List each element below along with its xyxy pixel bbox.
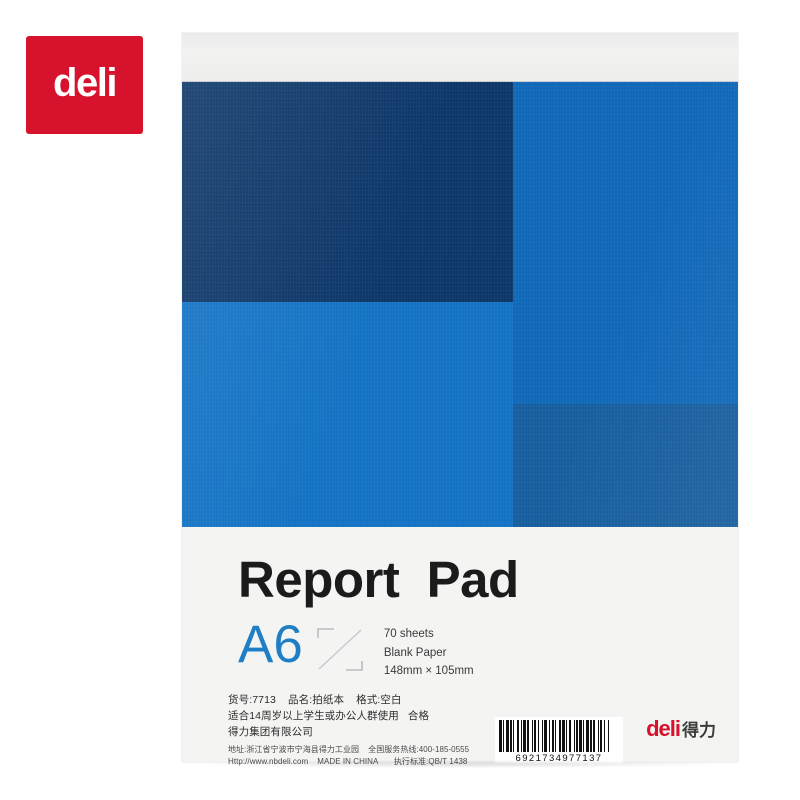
label-brand-logo: deli 得力 [646,718,716,740]
size-and-specs-row: A6 70 sheets Blank Paper 148mm × 105mm [238,621,474,681]
fineprint-age-suitability-line: 适合14周岁以上学生或办公人群使用 合格 [228,709,528,725]
color-block-top-left [182,82,513,302]
fineprint-company-name: 得力集团有限公司 [228,725,528,741]
fineprint-item-code-line: 货号:7713 品名:拍纸本 格式:空白 [228,693,528,709]
fineprint-address-hotline: 地址:浙江省宁波市宁海县得力工业园 全国服务热线:400-185-0555 [228,744,528,756]
color-block-top-right [513,82,738,404]
label-brand-logo-latin: deli [646,718,680,740]
fineprint-block: 货号:7713 品名:拍纸本 格式:空白 适合14周岁以上学生或办公人群使用 合… [228,693,528,769]
brand-logo-text: deli [53,63,116,103]
report-pad-product: Report Pad A6 70 sheets Blank Paper 148m… [182,33,738,762]
page-title: Report Pad [238,554,519,605]
paper-size-diagonal-icon [316,627,364,672]
cover-color-block-artwork [182,82,738,527]
spec-sheet-count: 70 sheets [384,625,474,644]
product-drop-shadow [190,760,732,768]
brand-logo-badge: deli [26,36,143,134]
barcode-bars [499,720,619,752]
specification-list: 70 sheets Blank Paper 148mm × 105mm [384,625,474,681]
color-block-bottom-right [513,404,738,527]
color-block-bottom-left [182,302,513,527]
paper-stack-top-edge [182,33,738,82]
spec-dimensions: 148mm × 105mm [384,662,474,681]
product-label-panel: Report Pad A6 70 sheets Blank Paper 148m… [182,527,738,762]
paper-size-code: A6 [238,621,303,670]
spec-paper-type: Blank Paper [384,644,474,663]
label-brand-logo-chinese: 得力 [682,722,716,739]
